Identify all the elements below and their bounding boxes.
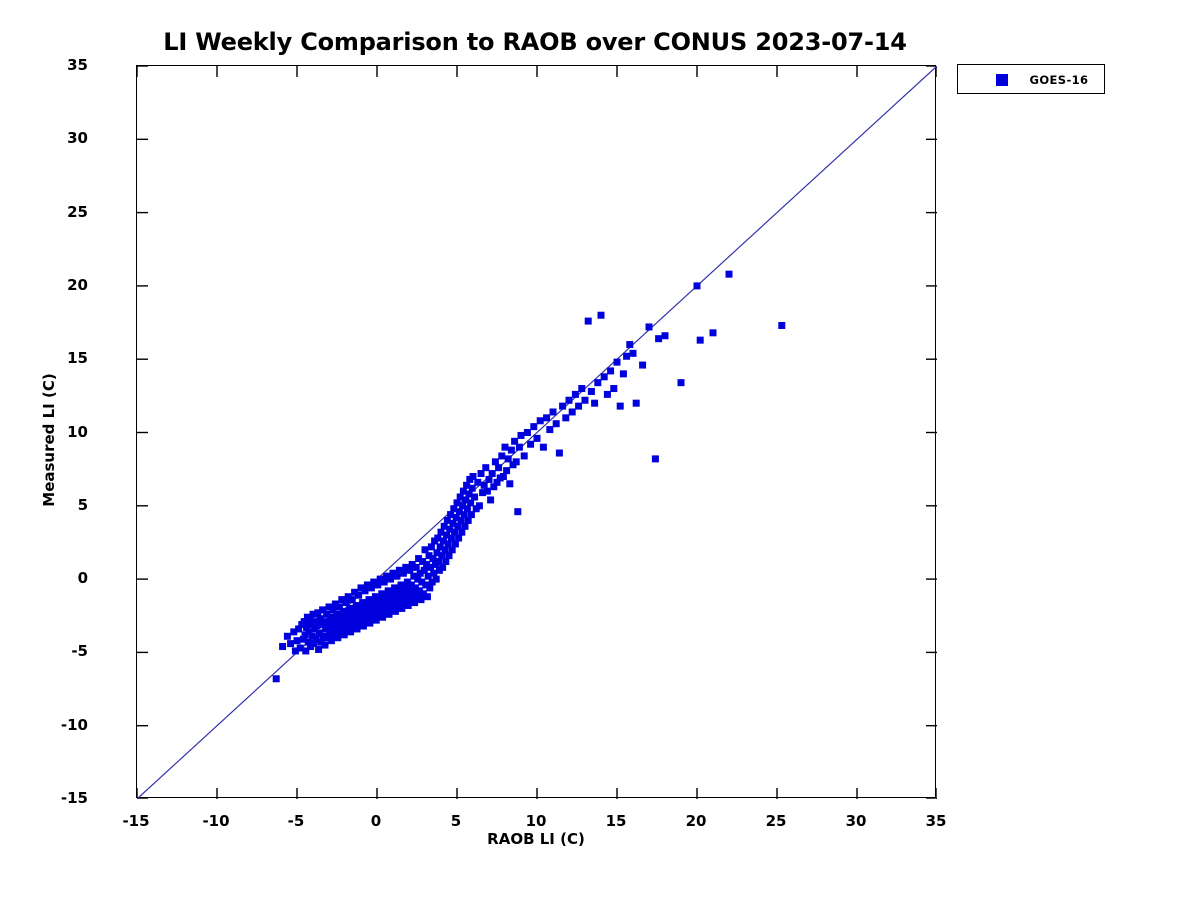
- data-point: [623, 353, 630, 360]
- x-tick-label-9: 30: [821, 812, 891, 830]
- data-point: [601, 373, 608, 380]
- data-point: [487, 496, 494, 503]
- data-point: [498, 452, 505, 459]
- data-point: [474, 479, 481, 486]
- data-point: [516, 444, 523, 451]
- data-point: [604, 391, 611, 398]
- page-title: LI Weekly Comparison to RAOB over CONUS …: [0, 28, 1070, 56]
- legend-marker-goes16: [996, 74, 1008, 86]
- data-point: [284, 633, 291, 640]
- y-tick-label-6: 15: [67, 349, 88, 367]
- data-point: [620, 370, 627, 377]
- data-point: [521, 452, 528, 459]
- data-point: [489, 470, 496, 477]
- one-to-one-line: [137, 66, 937, 799]
- data-point: [569, 408, 576, 415]
- data-point: [540, 444, 547, 451]
- data-point: [530, 423, 537, 430]
- series-goes-16: [273, 271, 786, 683]
- data-point: [553, 420, 560, 427]
- data-point: [502, 444, 509, 451]
- data-point: [513, 458, 520, 465]
- data-point: [585, 318, 592, 325]
- data-point: [678, 379, 685, 386]
- data-point: [534, 435, 541, 442]
- data-point: [578, 385, 585, 392]
- data-point: [582, 397, 589, 404]
- data-point: [607, 367, 614, 374]
- data-point: [476, 502, 483, 509]
- data-point: [527, 441, 534, 448]
- data-point: [575, 403, 582, 410]
- data-point: [355, 592, 362, 599]
- data-point: [273, 675, 280, 682]
- y-tick-label-9: 30: [67, 129, 88, 147]
- data-point: [588, 388, 595, 395]
- data-point: [572, 391, 579, 398]
- data-point: [633, 400, 640, 407]
- data-point: [566, 397, 573, 404]
- x-tick-label-5: 10: [501, 812, 571, 830]
- data-point: [556, 450, 563, 457]
- data-point: [322, 642, 329, 649]
- data-point: [508, 447, 515, 454]
- data-point: [482, 464, 489, 471]
- plot-area: [136, 65, 936, 798]
- data-point: [726, 271, 733, 278]
- x-tick-label-0: -15: [101, 812, 171, 830]
- data-point: [294, 637, 301, 644]
- x-axis-title: RAOB LI (C): [136, 830, 936, 848]
- data-point: [506, 480, 513, 487]
- data-point: [543, 414, 550, 421]
- x-tick-label-4: 5: [421, 812, 491, 830]
- data-point: [591, 400, 598, 407]
- data-point: [652, 455, 659, 462]
- data-point: [697, 337, 704, 344]
- data-point: [562, 414, 569, 421]
- data-point: [617, 403, 624, 410]
- legend: GOES-16: [957, 64, 1105, 94]
- data-point: [646, 323, 653, 330]
- data-point: [484, 488, 491, 495]
- y-tick-label-2: -5: [71, 642, 88, 660]
- chart-page: LI Weekly Comparison to RAOB over CONUS …: [0, 0, 1200, 900]
- x-tick-label-8: 25: [741, 812, 811, 830]
- data-point: [433, 576, 440, 583]
- data-point: [655, 335, 662, 342]
- data-point: [524, 429, 531, 436]
- data-point: [594, 379, 601, 386]
- y-tick-label-10: 35: [67, 56, 88, 74]
- x-tick-label-2: -5: [261, 812, 331, 830]
- x-tick-label-6: 15: [581, 812, 651, 830]
- y-tick-label-0: -15: [61, 789, 88, 807]
- data-point: [598, 312, 605, 319]
- data-point: [495, 464, 502, 471]
- data-point: [626, 341, 633, 348]
- x-tick-label-10: 35: [901, 812, 971, 830]
- data-point: [424, 593, 431, 600]
- data-point: [710, 329, 717, 336]
- data-point: [778, 322, 785, 329]
- x-tick-label-3: 0: [341, 812, 411, 830]
- y-axis-title: Measured LI (C): [40, 360, 58, 520]
- data-point: [546, 426, 553, 433]
- data-point: [550, 408, 557, 415]
- y-tick-label-1: -10: [61, 716, 88, 734]
- y-tick-label-7: 20: [67, 276, 88, 294]
- data-point: [471, 494, 478, 501]
- data-point: [279, 643, 286, 650]
- y-tick-label-5: 10: [67, 423, 88, 441]
- data-point: [315, 646, 322, 653]
- x-tick-label-7: 20: [661, 812, 731, 830]
- data-point: [518, 432, 525, 439]
- data-point: [514, 508, 521, 515]
- y-tick-label-8: 25: [67, 203, 88, 221]
- data-point: [639, 362, 646, 369]
- data-point: [537, 417, 544, 424]
- y-tick-label-3: 0: [78, 569, 88, 587]
- scatter-plot-canvas: [137, 66, 937, 799]
- data-point: [614, 359, 621, 366]
- y-tick-label-4: 5: [78, 496, 88, 514]
- data-point: [662, 332, 669, 339]
- legend-label-goes16: GOES-16: [1024, 73, 1094, 87]
- data-point: [694, 282, 701, 289]
- data-point: [610, 385, 617, 392]
- data-point: [630, 350, 637, 357]
- data-point: [503, 467, 510, 474]
- data-point: [559, 403, 566, 410]
- data-point: [287, 640, 294, 647]
- x-tick-label-1: -10: [181, 812, 251, 830]
